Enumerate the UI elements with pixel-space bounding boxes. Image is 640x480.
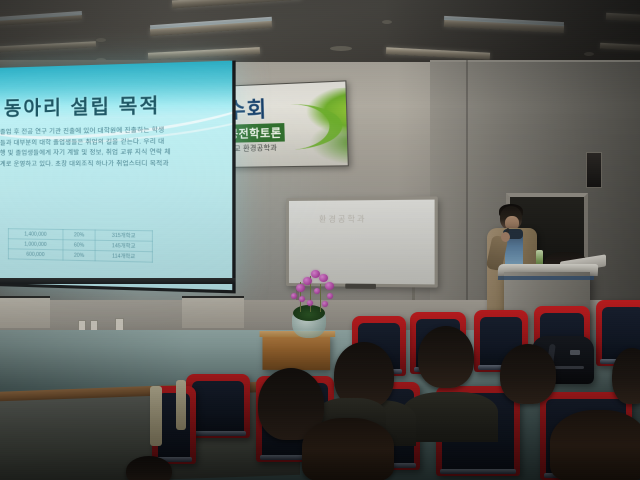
audience-head (418, 326, 474, 388)
presentation-slide: 동아리 설립 목적 졸업 후 전공 연구 기관 진출에 있어 대학원에 진출하는… (0, 61, 232, 290)
presenter-hand (501, 232, 510, 242)
whiteboard: 환경공학과 (286, 196, 438, 287)
display-table (262, 334, 330, 370)
orchid-stem (320, 284, 321, 312)
seat-armrest (150, 386, 162, 446)
orchid-bloom (307, 300, 313, 306)
audience-head (550, 410, 640, 480)
slide-title: 동아리 설립 목적 (4, 90, 161, 121)
table-cell-percent: 20% (63, 230, 95, 241)
slide-body-line: 계로 운영하고 있다. 초창 대외조직 하나가 취업스터디 목적과 (0, 158, 228, 170)
audience-head (302, 418, 394, 480)
orchid-bloom (303, 277, 312, 285)
lecture-hall-photo: 수회 공전학토론 학교 환경공학과 동아리 설립 목적 졸업 후 전공 연구 기… (0, 0, 640, 480)
podium-blue-trim (498, 276, 594, 280)
table-cell-amount: 600,000 (8, 249, 63, 260)
orchid-bloom (314, 288, 320, 294)
audience-shoulders (402, 392, 498, 442)
orchid-bloom (299, 296, 305, 302)
audience-head (500, 344, 556, 404)
orchid-bloom (296, 284, 305, 292)
table-cell-percent: 60% (63, 240, 95, 251)
wall-speaker-icon (586, 152, 602, 188)
audience-head (612, 348, 640, 404)
table-cell-count: 114개학교 (95, 251, 152, 263)
orchid-bloom (322, 301, 328, 307)
wall-panel-right (182, 296, 244, 328)
slide-data-table: 1,400,000 20% 315개학교 1,000,000 60% 145개학… (8, 228, 153, 262)
stage-banner: 수회 공전학토론 학교 환경공학과 (217, 80, 349, 168)
audience-head (126, 456, 172, 480)
seat-rail (440, 469, 516, 474)
whiteboard-marker-tray (345, 284, 376, 289)
projection-screen: 동아리 설립 목적 졸업 후 전공 연구 기관 진출에 있어 대학원에 진출하는… (0, 61, 236, 294)
orchid-bloom (325, 282, 334, 290)
orchid-bloom (327, 293, 333, 299)
orchid-bloom (291, 293, 297, 299)
seat-armrest (176, 380, 186, 430)
orchid-bloom (319, 274, 328, 282)
table-cell-percent: 20% (63, 250, 95, 261)
whiteboard-writing: 환경공학과 (319, 213, 367, 224)
slide-body-text: 졸업 후 전공 연구 기관 진출에 있어 대학원에 진출하는 학생 들과 대부분… (0, 125, 228, 170)
seat-cushion (192, 381, 244, 434)
seat-rail (190, 431, 246, 436)
backpack-logo (570, 350, 580, 355)
screen-bottom-bar (0, 278, 236, 284)
wall-panel-left (0, 296, 50, 328)
table-row: 600,000 20% 114개학교 (8, 249, 152, 262)
